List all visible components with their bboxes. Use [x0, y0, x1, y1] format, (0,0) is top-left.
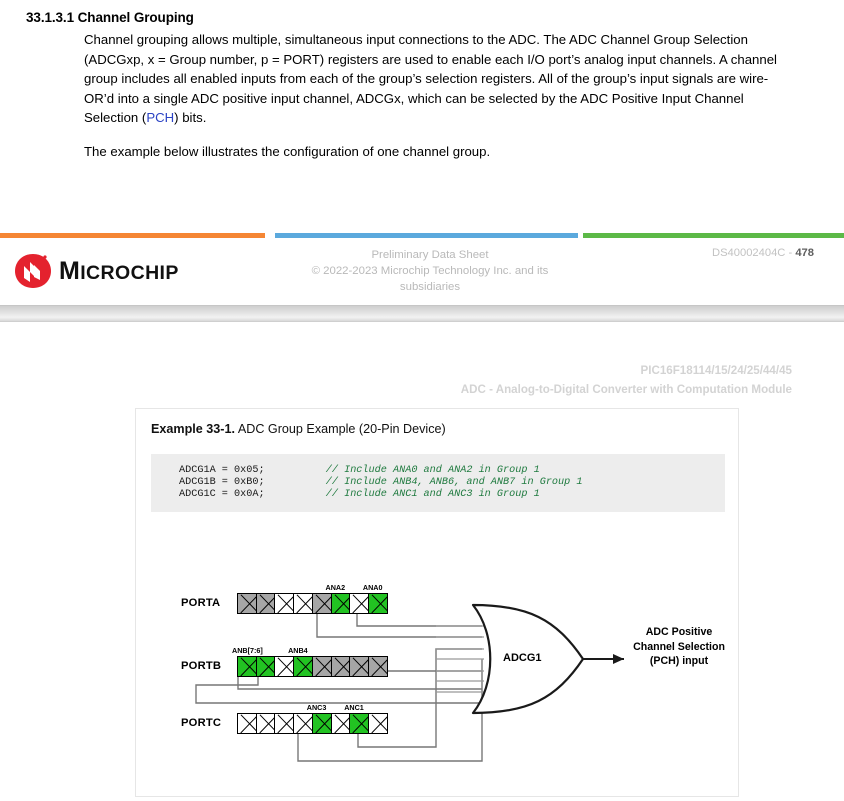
pin-label-ANB4: ANB4	[288, 646, 308, 655]
port-bit-cell[interactable]	[274, 713, 294, 734]
output-label: ADC Positive Channel Selection (PCH) inp…	[624, 625, 734, 669]
port-bit-cell[interactable]	[368, 713, 388, 734]
header-chapter-title: ADC - Analog-to-Digital Converter with C…	[461, 380, 792, 399]
port-bit-cell[interactable]	[312, 656, 332, 677]
port-row-porta	[237, 593, 387, 614]
footer-copyright: © 2022-2023 Microchip Technology Inc. an…	[280, 263, 580, 295]
color-bar-orange	[0, 233, 265, 238]
body-text: Channel grouping allows multiple, simult…	[84, 30, 784, 176]
wordmark-rest: ICROCHIP	[80, 262, 179, 284]
port-bit-cell[interactable]	[237, 656, 257, 677]
port-bit-cell[interactable]	[256, 656, 276, 677]
pch-link[interactable]: PCH	[146, 110, 174, 125]
port-row-portc	[237, 713, 387, 734]
port-bit-cell[interactable]	[293, 656, 313, 677]
pin-label-ANA2: ANA2	[326, 583, 346, 592]
footer-center-text: Preliminary Data Sheet © 2022-2023 Micro…	[280, 247, 580, 295]
page-number: 478	[795, 247, 814, 259]
port-bit-cell[interactable]	[237, 713, 257, 734]
footer-color-bars	[0, 233, 844, 238]
port-bit-cell[interactable]	[349, 713, 369, 734]
pin-label-ANC1: ANC1	[344, 703, 364, 712]
port-bit-cell[interactable]	[312, 713, 332, 734]
running-header: PIC16F18114/15/24/25/44/45 ADC - Analog-…	[461, 361, 792, 399]
port-bit-cell[interactable]	[312, 593, 332, 614]
paragraph-1-tail: ) bits.	[174, 110, 206, 125]
microchip-logo: MICROCHIP	[14, 253, 179, 289]
port-label-portc: PORTC	[181, 717, 221, 729]
page-break-divider	[0, 305, 844, 322]
footer-doc-id: DS40002404C - 478	[600, 247, 814, 259]
gate-label: ADCG1	[503, 652, 542, 664]
adc-group-diagram: ADCG1 ADC Positive Channel Selection (PC…	[136, 409, 740, 798]
port-bit-cell[interactable]	[368, 593, 388, 614]
color-bar-green	[583, 233, 844, 238]
port-bit-cell[interactable]	[293, 593, 313, 614]
paragraph-channel-grouping: Channel grouping allows multiple, simult…	[84, 30, 784, 128]
microchip-shield-icon	[14, 253, 52, 289]
doc-number: DS40002404C -	[712, 247, 795, 259]
example-panel: Example 33-1. ADC Group Example (20-Pin …	[135, 408, 739, 797]
paragraph-example-intro: The example below illustrates the config…	[84, 142, 784, 162]
port-bit-cell[interactable]	[274, 593, 294, 614]
port-bit-cell[interactable]	[237, 593, 257, 614]
port-row-portb	[237, 656, 387, 677]
footer-datasheet-status: Preliminary Data Sheet	[280, 247, 580, 263]
port-label-porta: PORTA	[181, 597, 220, 609]
port-bit-cell[interactable]	[256, 593, 276, 614]
port-bit-cell[interactable]	[274, 656, 294, 677]
port-bit-cell[interactable]	[349, 593, 369, 614]
port-label-portb: PORTB	[181, 660, 221, 672]
color-bar-blue	[275, 233, 578, 238]
pin-label-ANA0: ANA0	[363, 583, 383, 592]
port-bit-cell[interactable]	[349, 656, 369, 677]
port-bit-cell[interactable]	[368, 656, 388, 677]
pin-label-ANC3: ANC3	[307, 703, 327, 712]
pin-label-ANB76: ANB[7:6]	[232, 646, 263, 655]
port-bit-cell[interactable]	[293, 713, 313, 734]
microchip-wordmark: MICROCHIP	[59, 259, 179, 284]
port-bit-cell[interactable]	[331, 713, 351, 734]
header-device-family: PIC16F18114/15/24/25/44/45	[461, 361, 792, 380]
port-bit-cell[interactable]	[331, 593, 351, 614]
wordmark-capital: M	[59, 257, 80, 285]
port-bit-cell[interactable]	[331, 656, 351, 677]
section-heading: 33.1.3.1 Channel Grouping	[26, 10, 194, 25]
port-bit-cell[interactable]	[256, 713, 276, 734]
